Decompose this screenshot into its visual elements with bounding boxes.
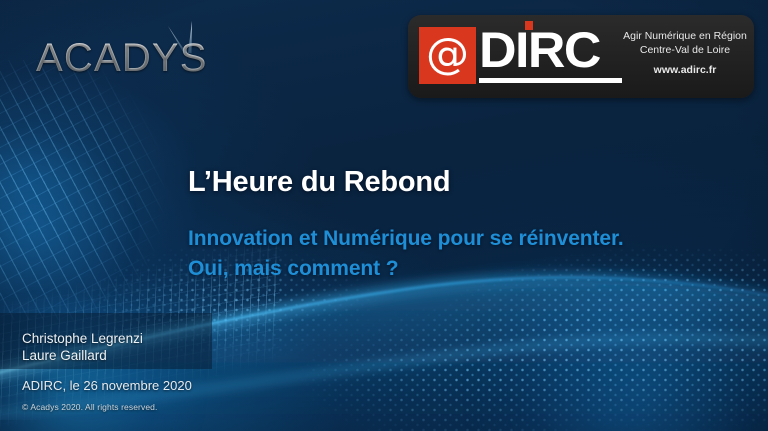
author-names: Christophe Legrenzi Laure Gaillard <box>22 330 143 364</box>
spark-icon <box>162 20 212 56</box>
slide-title: L’Heure du Rebond <box>188 166 450 199</box>
presentation-title-slide: ACADYS @ DIRC Agir Numérique en Région C… <box>0 0 768 431</box>
dirc-wordmark: DIRC <box>479 25 600 75</box>
copyright-notice: © Acadys 2020. All rights reserved. <box>22 402 157 412</box>
adirc-website: www.adirc.fr <box>622 63 748 77</box>
slide-subtitle: Innovation et Numérique pour se réinvent… <box>188 224 624 284</box>
acadys-logo: ACADYS <box>36 24 246 86</box>
event-date-line: ADIRC, le 26 novembre 2020 <box>22 378 192 393</box>
tagline-line-2: Centre-Val de Loire <box>640 44 730 56</box>
tagline-line-1: Agir Numérique en Région <box>623 30 747 42</box>
dirc-underline <box>479 78 622 83</box>
at-icon: @ <box>426 33 469 76</box>
author-name-1: Christophe Legrenzi <box>22 331 143 346</box>
subtitle-line-1: Innovation et Numérique pour se réinvent… <box>188 227 624 250</box>
adirc-logo: @ DIRC Agir Numérique en Région Centre-V… <box>408 15 754 98</box>
author-name-2: Laure Gaillard <box>22 348 107 363</box>
at-badge: @ <box>419 27 476 84</box>
adirc-tagline: Agir Numérique en Région Centre-Val de L… <box>622 29 748 77</box>
subtitle-line-2: Oui, mais comment ? <box>188 257 398 280</box>
dirc-tittle-accent <box>525 21 533 30</box>
